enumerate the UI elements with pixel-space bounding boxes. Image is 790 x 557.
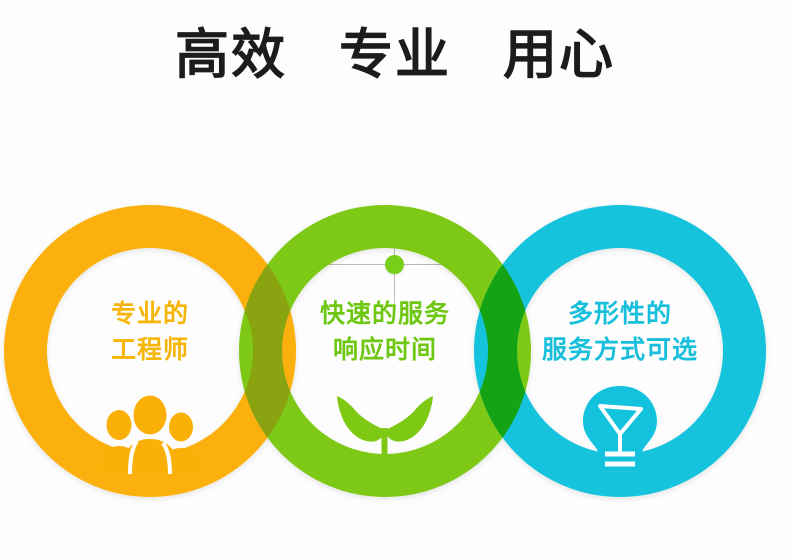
circle-label-engineers: 专业的 工程师 xyxy=(30,296,270,369)
circle-label-line-1: 专业的 xyxy=(30,296,270,332)
circle-content-engineers: 专业的 工程师 xyxy=(30,296,270,369)
people-group-icon xyxy=(30,382,270,474)
poster-canvas: 高效专业用心 xyxy=(0,0,790,557)
circle-label-service-modes: 多形性的 服务方式可选 xyxy=(500,296,740,369)
lightbulb-icon xyxy=(500,380,740,472)
circle-label-line-2: 工程师 xyxy=(30,332,270,368)
circle-label-response-time: 快速的服务 响应时间 xyxy=(265,296,505,369)
circle-label-line-2: 服务方式可选 xyxy=(500,332,740,368)
circle-label-line-1: 多形性的 xyxy=(500,296,740,332)
sprout-icon xyxy=(265,380,505,472)
circle-label-line-2: 响应时间 xyxy=(265,332,505,368)
circle-content-service-modes: 多形性的 服务方式可选 xyxy=(500,296,740,369)
circle-label-line-1: 快速的服务 xyxy=(265,296,505,332)
circle-content-response-time: 快速的服务 响应时间 xyxy=(265,296,505,369)
